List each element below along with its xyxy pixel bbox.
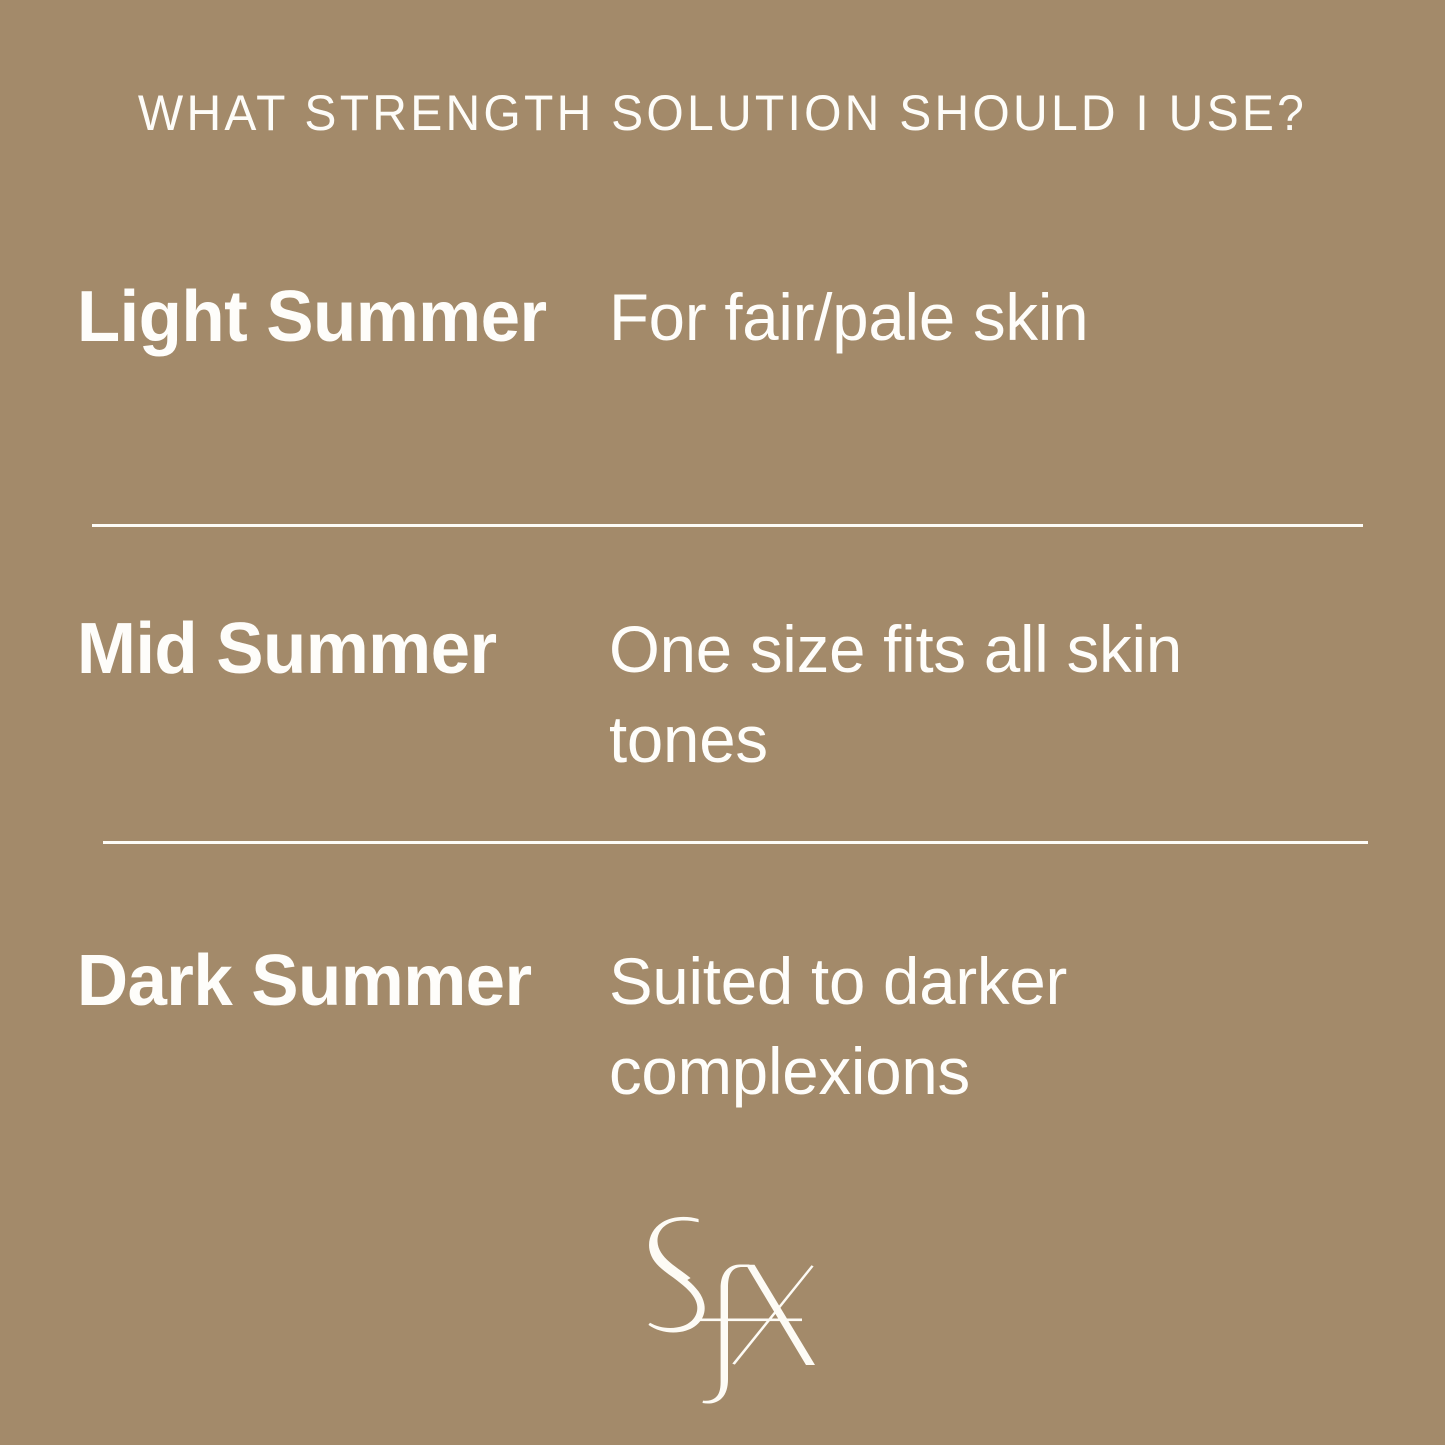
strength-row-dark-summer: Dark Summer Suited to darker complexions	[0, 936, 1445, 1116]
strength-row-mid-summer: Mid Summer One size fits all skin tones	[0, 604, 1445, 784]
strength-label-mid-summer: Mid Summer	[0, 604, 596, 694]
strength-row-light-summer: Light Summer For fair/pale skin	[0, 272, 1445, 362]
strength-description-line-2: complexions	[609, 1026, 1298, 1116]
strength-description-mid-summer: One size fits all skin tones	[605, 604, 1298, 784]
strength-description-line-1: Suited to darker	[609, 944, 1067, 1018]
strength-description-dark-summer: Suited to darker complexions	[605, 936, 1298, 1116]
strength-description-light-summer: For fair/pale skin	[605, 272, 1298, 362]
strength-description-line-1: For fair/pale skin	[609, 280, 1088, 354]
brand-logo	[612, 1206, 852, 1416]
strength-label-light-summer: Light Summer	[0, 272, 596, 362]
infographic-canvas: WHAT STRENGTH SOLUTION SHOULD I USE? Lig…	[0, 0, 1445, 1445]
strength-description-line-1: One size fits all skin	[609, 612, 1182, 686]
strength-label-dark-summer: Dark Summer	[0, 936, 596, 1026]
page-title: WHAT STRENGTH SOLUTION SHOULD I USE?	[29, 84, 1416, 142]
sfx-monogram-icon	[648, 1217, 815, 1404]
row-divider-1	[92, 524, 1363, 527]
strength-description-line-2: tones	[609, 694, 1298, 784]
row-divider-2	[103, 841, 1368, 844]
